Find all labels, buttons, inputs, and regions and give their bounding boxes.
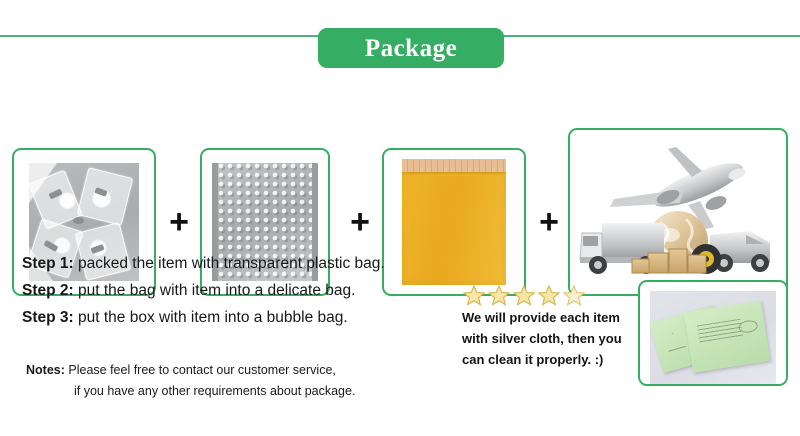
notes-line-1: Please feel free to contact our customer…	[68, 363, 336, 377]
logistics-illustration	[574, 137, 782, 287]
package-step-box-4	[568, 128, 788, 296]
step-label: Step 1:	[22, 255, 74, 272]
header: Package	[0, 14, 800, 58]
silver-cloth-photo	[650, 291, 776, 384]
rating-stars	[462, 283, 642, 307]
step-label: Step 3:	[22, 309, 74, 326]
steps-list: Step 1: packed the item with transparent…	[22, 250, 452, 331]
notes-label: Notes:	[26, 363, 65, 377]
star-icon	[462, 284, 486, 307]
promise-line-2: with silver cloth, then you	[462, 328, 642, 349]
star-icon	[537, 284, 561, 307]
plus-separator-2: +	[347, 205, 373, 239]
promise-line-1: We will provide each item	[462, 307, 642, 328]
star-icon	[487, 284, 511, 307]
step-item: Step 2: put the bag with item into a del…	[22, 277, 452, 304]
silver-cloth-box	[638, 280, 788, 386]
step-text: packed the item with transparent plastic…	[78, 255, 385, 272]
step-item: Step 1: packed the item with transparent…	[22, 250, 452, 277]
star-icon	[512, 284, 536, 307]
package-infographic: Package +	[0, 0, 800, 436]
step-text: put the box with item into a bubble bag.	[78, 309, 348, 326]
plus-separator-1: +	[166, 205, 192, 239]
packaging-flow: + + +	[0, 62, 800, 242]
notes-line-2: if you have any other requirements about…	[26, 381, 446, 402]
shipping-logistics-photo	[570, 130, 786, 294]
page-title: Package	[365, 36, 457, 61]
silver-cloth-promise: We will provide each item with silver cl…	[462, 283, 642, 370]
promise-line-3: can clean it properly. :)	[462, 349, 642, 370]
step-label: Step 2:	[22, 282, 74, 299]
step-item: Step 3: put the box with item into a bub…	[22, 304, 452, 331]
plus-separator-3: +	[536, 205, 562, 239]
step-text: put the bag with item into a delicate ba…	[78, 282, 355, 299]
star-icon	[562, 284, 586, 307]
notes-first-row: Notes: Please feel free to contact our c…	[26, 360, 446, 381]
notes-block: Notes: Please feel free to contact our c…	[26, 360, 446, 402]
